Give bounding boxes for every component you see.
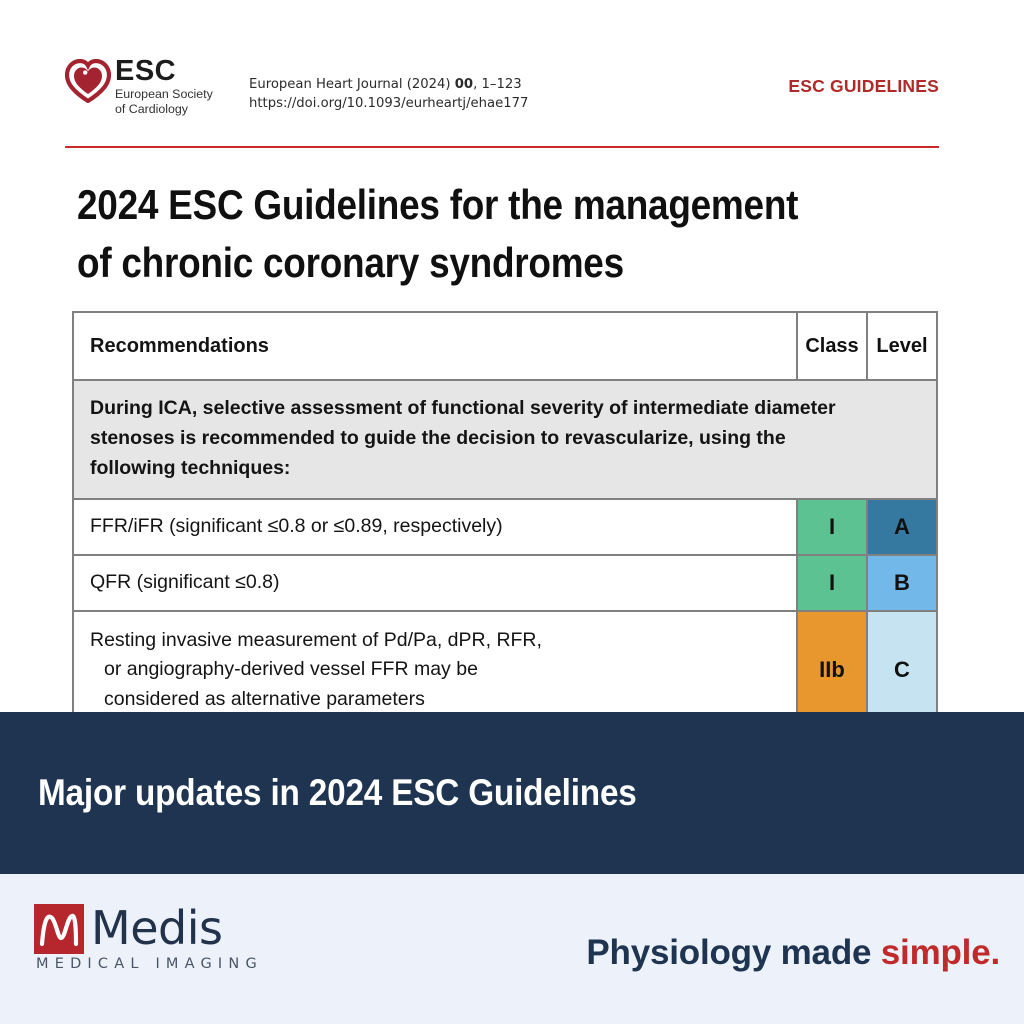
footer: Medis MEDICAL IMAGING Physiology made si…: [0, 874, 1024, 1024]
recommendation-line: QFR (significant ≤0.8): [90, 568, 780, 598]
journal-header: ESC European Society of Cardiology Europ…: [65, 58, 939, 136]
medis-brand-subtitle: MEDICAL IMAGING: [36, 956, 294, 972]
esc-logo-name: ESC: [115, 58, 213, 86]
slide-page: ESC European Society of Cardiology Europ…: [0, 0, 1024, 1024]
esc-guidelines-tag: ESC GUIDELINES: [788, 76, 939, 97]
document-section: ESC European Society of Cardiology Europ…: [0, 0, 1024, 712]
recommendation-line: or angiography-derived vessel FFR may be: [90, 655, 780, 685]
intro-line-1: During ICA, selective assessment of func…: [90, 394, 920, 424]
recommendation-line: considered as alternative parameters: [90, 685, 780, 715]
intro-line-3: following techniques:: [90, 454, 920, 484]
medis-waveform-icon: [34, 904, 84, 954]
table-row: Resting invasive measurement of Pd/Pa, d…: [74, 612, 936, 729]
page-title-line2: of chronic coronary syndromes: [77, 234, 834, 292]
citation-pages: , 1–123: [473, 77, 522, 92]
table-row: FFR/iFR (significant ≤0.8 or ≤0.89, resp…: [74, 500, 936, 556]
footer-tagline: Physiology made simple.: [586, 933, 1000, 973]
tagline-main: Physiology made: [586, 933, 880, 972]
recommendation-line: Resting invasive measurement of Pd/Pa, d…: [90, 626, 780, 656]
esc-logo: ESC European Society of Cardiology: [65, 58, 233, 116]
medis-logo[interactable]: Medis MEDICAL IMAGING: [34, 904, 294, 972]
citation-text: European Heart Journal (2024): [249, 77, 455, 92]
class-badge: I: [796, 500, 866, 554]
table-intro-row: During ICA, selective assessment of func…: [74, 381, 936, 500]
table-row: QFR (significant ≤0.8) I B: [74, 556, 936, 612]
recommendation-text: Resting invasive measurement of Pd/Pa, d…: [74, 612, 796, 729]
esc-logo-subtitle-line2: of Cardiology: [115, 102, 213, 116]
header-divider: [65, 146, 939, 148]
recommendation-text: QFR (significant ≤0.8): [74, 556, 796, 610]
intro-line-2: stenoses is recommended to guide the dec…: [90, 424, 920, 454]
recommendation-line: FFR/iFR (significant ≤0.8 or ≤0.89, resp…: [90, 512, 780, 542]
level-badge: A: [866, 500, 936, 554]
esc-wordmark: ESC European Society of Cardiology: [115, 58, 213, 116]
level-badge: C: [866, 612, 936, 729]
medis-brand-name: Medis: [91, 907, 222, 951]
citation-volume: 00: [455, 77, 473, 92]
column-header-level: Level: [866, 313, 936, 379]
doi-link[interactable]: https://doi.org/10.1093/eurheartj/ehae17…: [249, 95, 528, 114]
tagline-accent: simple.: [881, 933, 1000, 972]
major-updates-banner: Major updates in 2024 ESC Guidelines: [0, 712, 1024, 874]
class-badge: I: [796, 556, 866, 610]
intro-text: During ICA, selective assessment of func…: [74, 381, 936, 498]
banner-title: Major updates in 2024 ESC Guidelines: [38, 772, 637, 814]
page-title-line1: 2024 ESC Guidelines for the management: [77, 176, 834, 234]
esc-heart-icon: [65, 59, 111, 103]
recommendation-text: FFR/iFR (significant ≤0.8 or ≤0.89, resp…: [74, 500, 796, 554]
column-header-class: Class: [796, 313, 866, 379]
medis-logo-row: Medis: [34, 904, 294, 954]
column-header-recommendations: Recommendations: [74, 313, 796, 379]
page-title: 2024 ESC Guidelines for the management o…: [77, 176, 834, 292]
recommendations-table: Recommendations Class Level During ICA, …: [72, 311, 938, 730]
esc-logo-subtitle-line1: European Society: [115, 87, 213, 101]
class-badge: IIb: [796, 612, 866, 729]
level-badge: B: [866, 556, 936, 610]
journal-citation: European Heart Journal (2024) 00, 1–123 …: [249, 58, 528, 113]
table-header-row: Recommendations Class Level: [74, 313, 936, 381]
